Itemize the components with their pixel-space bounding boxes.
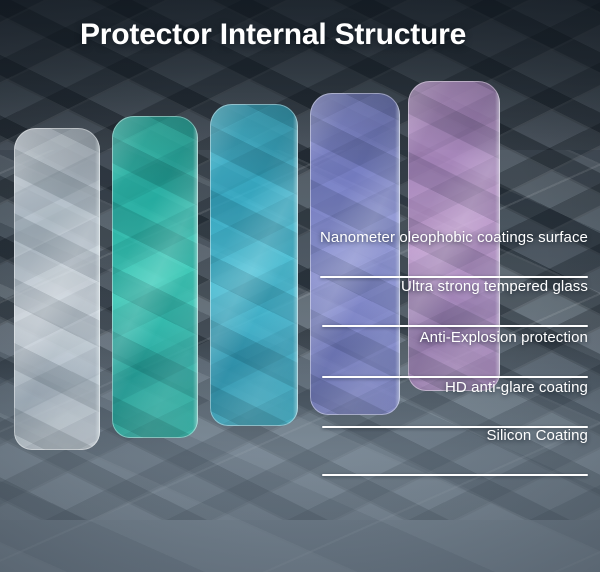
callout-label: Silicon Coating [486,427,588,444]
callout-rule [322,474,588,476]
callout-label: HD anti-glare coating [445,379,588,396]
callout-rule [322,376,588,378]
callout-label: Anti-Explosion protection [420,329,588,346]
product-infographic: Protector Internal Structure [0,0,600,572]
callout-rule [322,325,588,327]
page-title: Protector Internal Structure [80,18,466,52]
callout-list: Nanometer oleophobic coatings surface Ul… [0,0,600,572]
callout-label: Nanometer oleophobic coatings surface [320,229,588,246]
callout-label: Ultra strong tempered glass [401,278,588,295]
